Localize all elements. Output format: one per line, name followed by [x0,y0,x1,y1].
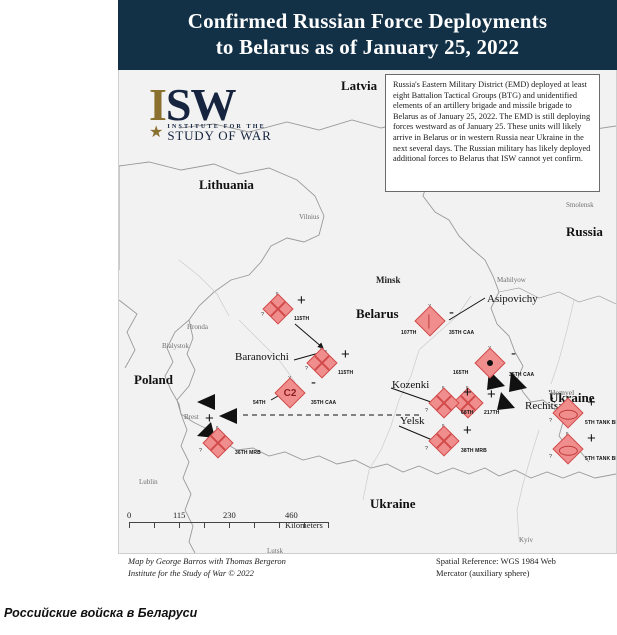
unit-parent-35th-caa: 35TH CAA [449,330,474,336]
size-modifier-plus: + [587,398,596,408]
label-latvia: Latvia [341,78,377,94]
spatial-reference-line-2: Mercator (auxiliary sphere) [436,567,556,579]
map-footer: Map by George Barros with Thomas Bergero… [118,555,615,600]
map-spatial-reference: Spatial Reference: WGS 1984 Web Mercator… [436,555,556,579]
size-modifier-plus: + [463,426,472,436]
label-hronda: Hronda [187,323,208,331]
size-modifier-plus: + [487,390,496,400]
figure-caption: Российские войска в Беларуси [4,606,604,620]
uncertainty-marker: ? [549,418,552,424]
label-vilnius: Vilnius [299,213,319,221]
label-russia: Russia [566,224,603,240]
unit-label-115th: 115TH [338,370,353,376]
size-modifier-plus: + [205,414,214,424]
label-lublin: Lublin [139,478,158,486]
size-modifier-minus: - [449,309,454,317]
unit-label-38th-mrb: 38TH MRB [461,448,487,454]
map-title-line-2: to Belarus as of January 25, 2022 [118,34,617,60]
unit-label-68th: 68TH [461,410,474,416]
unit-label-165th: 165TH [453,370,469,376]
size-modifier-plus: + [341,350,350,360]
map-credit: Map by George Barros with Thomas Bergero… [128,555,286,579]
isw-logo-letter-i: I [149,79,166,130]
map-title-banner: Confirmed Russian Force Deployments to B… [118,0,617,70]
label-lithuania: Lithuania [199,177,254,193]
unit-label-36th-mrb: 36TH MRB [235,450,261,456]
spatial-reference-line-1: Spatial Reference: WGS 1984 Web [436,555,556,567]
unit-label-115th: 115TH [294,316,309,322]
map-canvas[interactable]: ISW ★ INSTITUTE FOR THE STUDY OF WAR Rus… [118,70,617,554]
uncertainty-marker: ? [425,446,428,452]
unit-label-5th-tank-brigade: 5TH TANK BRIGADE [585,456,617,462]
uncertainty-marker: ? [199,448,202,454]
size-modifier-plus: + [463,388,472,398]
label-smolensk: Smolensk [566,201,594,209]
map-credit-line-1: Map by George Barros with Thomas Bergero… [128,555,286,567]
label-asipovichy: Asipovichy [487,293,538,305]
map-description-box: Russia's Eastern Military District (EMD)… [385,74,600,192]
scale-tick-0: 0 [127,510,131,520]
label-brest: Brest [184,413,199,421]
uncertainty-marker: ? [549,454,552,460]
size-modifier-plus: + [297,296,306,306]
label-kyiv: Kyiv [519,536,533,544]
size-modifier-plus: + [587,434,596,444]
unit-label-54th: 54TH [253,400,266,406]
unit-label-107th: 107TH [401,330,417,336]
map-credit-line-2: Institute for the Study of War © 2022 [128,567,286,579]
map-scale-bar: 0 115 230 460 Kilometers [129,510,329,531]
unit-label-5th-tank-brigade: 5TH TANK BRIGADE [585,420,617,426]
tank-oval-icon [559,445,578,455]
isw-map-figure: Confirmed Russian Force Deployments to B… [118,0,617,600]
unit-parent-35th-caa: 35TH CAA [311,400,336,406]
label-lutsk: Lutsk [267,547,283,554]
label-ukraine: Ukraine [370,496,416,512]
map-title-line-1: Confirmed Russian Force Deployments [118,0,617,34]
label-kozenki: Kozenki [392,379,429,391]
label-homyel: Homyel [550,388,574,397]
unit-parent-35th-caa: 35TH CAA [509,372,534,378]
size-modifier-minus: - [511,350,516,358]
unit-label-c2: C2 [280,383,300,403]
uncertainty-marker: ? [261,312,264,318]
label-belarus: Belarus [356,306,399,322]
isw-logo-tagline-2: STUDY OF WAR [167,131,271,140]
isw-logo: ISW ★ INSTITUTE FOR THE STUDY OF WAR [149,82,294,157]
scale-tick-230: 230 [223,510,236,520]
unit-label-217th: 217TH [484,410,500,416]
map-description-text: Russia's Eastern Military District (EMD)… [393,80,592,165]
artillery-dot-icon [486,359,494,367]
uncertainty-marker: ? [425,408,428,414]
label-baranovichi: Baranovichi [235,351,289,363]
label-yelsk: Yelsk [400,415,425,427]
star-icon: ★ [149,126,163,140]
uncertainty-marker: ? [305,366,308,372]
scale-tick-115: 115 [173,510,185,520]
tank-oval-icon [559,409,578,419]
label-poland: Poland [134,372,173,388]
label-minsk: Minsk [376,275,401,285]
size-modifier-minus: - [311,379,316,387]
label-mahilyow: Mahilyow [497,276,526,284]
label-bialystok: Bialystok [162,342,189,350]
